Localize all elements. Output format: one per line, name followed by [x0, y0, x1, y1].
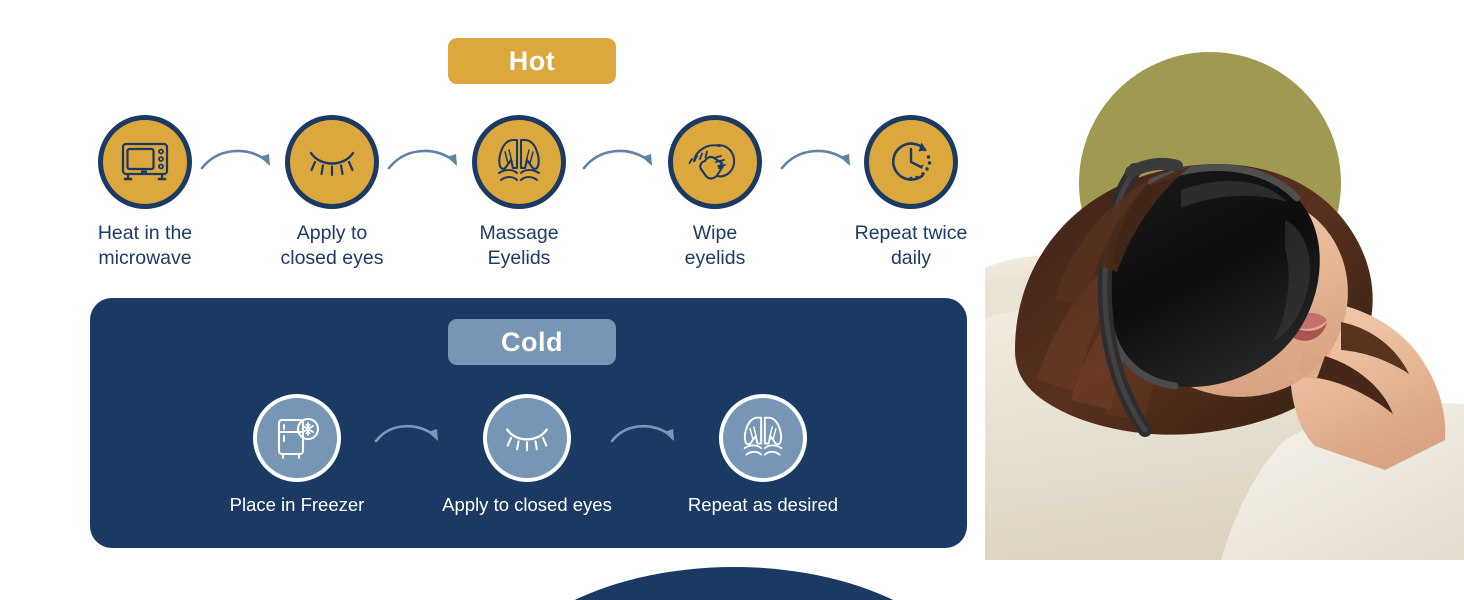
- cold-step-2-circle: [483, 394, 571, 482]
- hot-step-3-circle: [472, 115, 566, 209]
- hot-badge: Hot: [448, 38, 616, 84]
- massage-hands-icon: [737, 414, 789, 462]
- hot-step-1-circle: [98, 115, 192, 209]
- hot-step-2-circle: [285, 115, 379, 209]
- hot-step-5-label: Repeat twice daily: [814, 221, 1008, 271]
- hot-step-2-label: Apply to closed eyes: [235, 221, 429, 271]
- hot-section: Hot Heat in the microwave: [0, 0, 990, 298]
- cold-step-1-circle: [253, 394, 341, 482]
- hot-step-4-circle: [668, 115, 762, 209]
- hot-step-5-circle: [864, 115, 958, 209]
- cold-step-3-circle: [719, 394, 807, 482]
- closed-eye-icon: [502, 422, 552, 454]
- cold-step-1[interactable]: Place in Freezer: [197, 394, 397, 517]
- freezer-snowflake-icon: [273, 414, 321, 462]
- hot-step-3-label: Massage Eyelids: [422, 221, 616, 271]
- closed-eye-icon: [306, 145, 358, 179]
- cold-step-2-label: Apply to closed eyes: [427, 493, 627, 517]
- massage-hands-icon: [491, 136, 547, 188]
- hot-step-5[interactable]: Repeat twice daily: [814, 115, 1008, 271]
- woman-wearing-eye-mask-photo: [985, 0, 1464, 560]
- microwave-icon: [120, 140, 170, 184]
- cold-step-1-label: Place in Freezer: [197, 493, 397, 517]
- wipe-hand-eye-icon: [688, 139, 742, 185]
- cold-badge: Cold: [448, 319, 616, 365]
- clock-repeat-icon: [885, 136, 937, 188]
- hot-step-1-label: Heat in the microwave: [48, 221, 242, 271]
- hot-step-4-label: Wipe eyelids: [618, 221, 812, 271]
- infographic-canvas: Hot Heat in the microwave: [0, 0, 1464, 600]
- cold-step-2[interactable]: Apply to closed eyes: [427, 394, 627, 517]
- cold-step-3-label: Repeat as desired: [663, 493, 863, 517]
- bottom-arc-decoration: [487, 567, 981, 600]
- cold-step-3[interactable]: Repeat as desired: [663, 394, 863, 517]
